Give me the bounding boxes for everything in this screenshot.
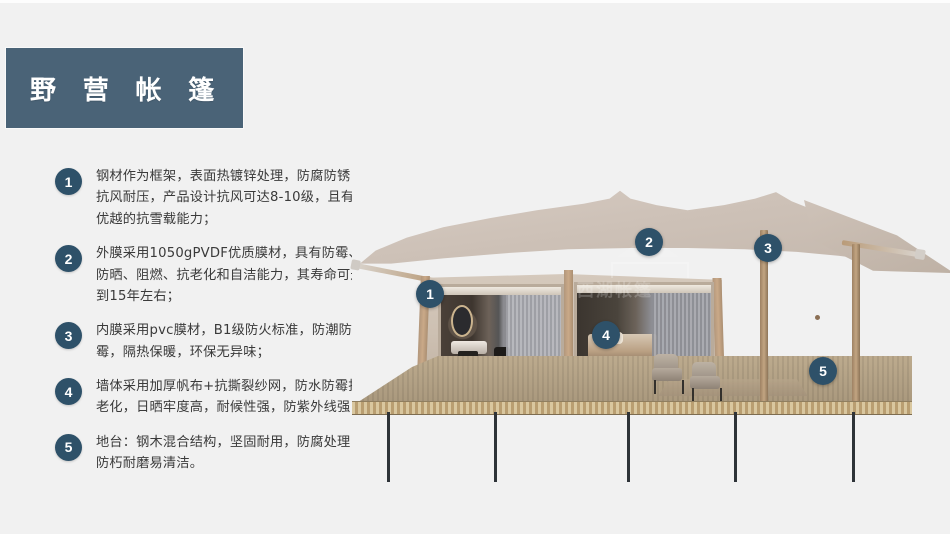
deck-edge-trim [352, 401, 912, 415]
mirror-icon [451, 305, 473, 337]
roof-peak-3 [815, 315, 820, 320]
deck-support-leg [852, 412, 855, 482]
feature-text-4: 墙体采用加厚帆布+抗撕裂纱网，防水防霉抗老化，日晒牢度高，耐候性强，防紫外线强； [96, 376, 365, 419]
top-divider [0, 0, 950, 3]
list-item: 5 地台：钢木混合结构，坚固耐用，防腐处理，防朽耐磨易清洁。 [55, 432, 365, 475]
photo-marker-4: 4 [592, 321, 620, 349]
feature-text-1: 钢材作为框架，表面热镀锌处理，防腐防锈，抗风耐压，产品设计抗风可达8-10级，且… [96, 166, 365, 230]
deck-support-leg [627, 412, 630, 482]
list-item: 1 钢材作为框架，表面热镀锌处理，防腐防锈，抗风耐压，产品设计抗风可达8-10级… [55, 166, 365, 230]
slide-page: 野 营 帐 篷 1 钢材作为框架，表面热镀锌处理，防腐防锈，抗风耐压，产品设计抗… [0, 0, 950, 534]
photo-marker-2: 2 [635, 228, 663, 256]
photo-marker-1: 1 [416, 280, 444, 308]
photo-marker-5: 5 [809, 357, 837, 385]
list-item: 3 内膜采用pvc膜材，B1级防火标准，防潮防霉，隔热保暖，环保无异味； [55, 320, 365, 363]
feature-badge-2: 2 [55, 245, 82, 272]
page-title-banner: 野 营 帐 篷 [6, 48, 243, 128]
deck-support-leg [494, 412, 497, 482]
list-item: 2 外膜采用1050gPVDF优质膜材，具有防霉、防晒、阻燃、抗老化和自洁能力，… [55, 243, 365, 307]
feature-text-3: 内膜采用pvc膜材，B1级防火标准，防潮防霉，隔热保暖，环保无异味； [96, 320, 365, 363]
window-header-right [577, 285, 711, 293]
feature-badge-4: 4 [55, 378, 82, 405]
feature-text-5: 地台：钢木混合结构，坚固耐用，防腐处理，防朽耐磨易清洁。 [96, 432, 365, 475]
feature-badge-1: 1 [55, 168, 82, 195]
deck-support-leg [734, 412, 737, 482]
deck-support-leg [387, 412, 390, 482]
page-title: 野 营 帐 篷 [6, 70, 223, 107]
chair-legs [692, 388, 722, 402]
veranda-post-2 [852, 244, 860, 402]
list-item: 4 墙体采用加厚帆布+抗撕裂纱网，防水防霉抗老化，日晒牢度高，耐候性强，防紫外线… [55, 376, 365, 419]
photo-marker-3: 3 [754, 234, 782, 262]
feature-badge-5: 5 [55, 434, 82, 461]
chair-legs [654, 380, 684, 394]
feature-list: 1 钢材作为框架，表面热镀锌处理，防腐防锈，抗风耐压，产品设计抗风可达8-10级… [55, 166, 365, 475]
product-photo: 西湖帐篷 1 2 3 4 5 [352, 148, 938, 460]
feature-badge-3: 3 [55, 322, 82, 349]
tent-roof-extension [804, 200, 950, 318]
window-header-left [441, 287, 561, 295]
feature-text-2: 外膜采用1050gPVDF优质膜材，具有防霉、防晒、阻燃、抗老化和自洁能力，其寿… [96, 243, 365, 307]
